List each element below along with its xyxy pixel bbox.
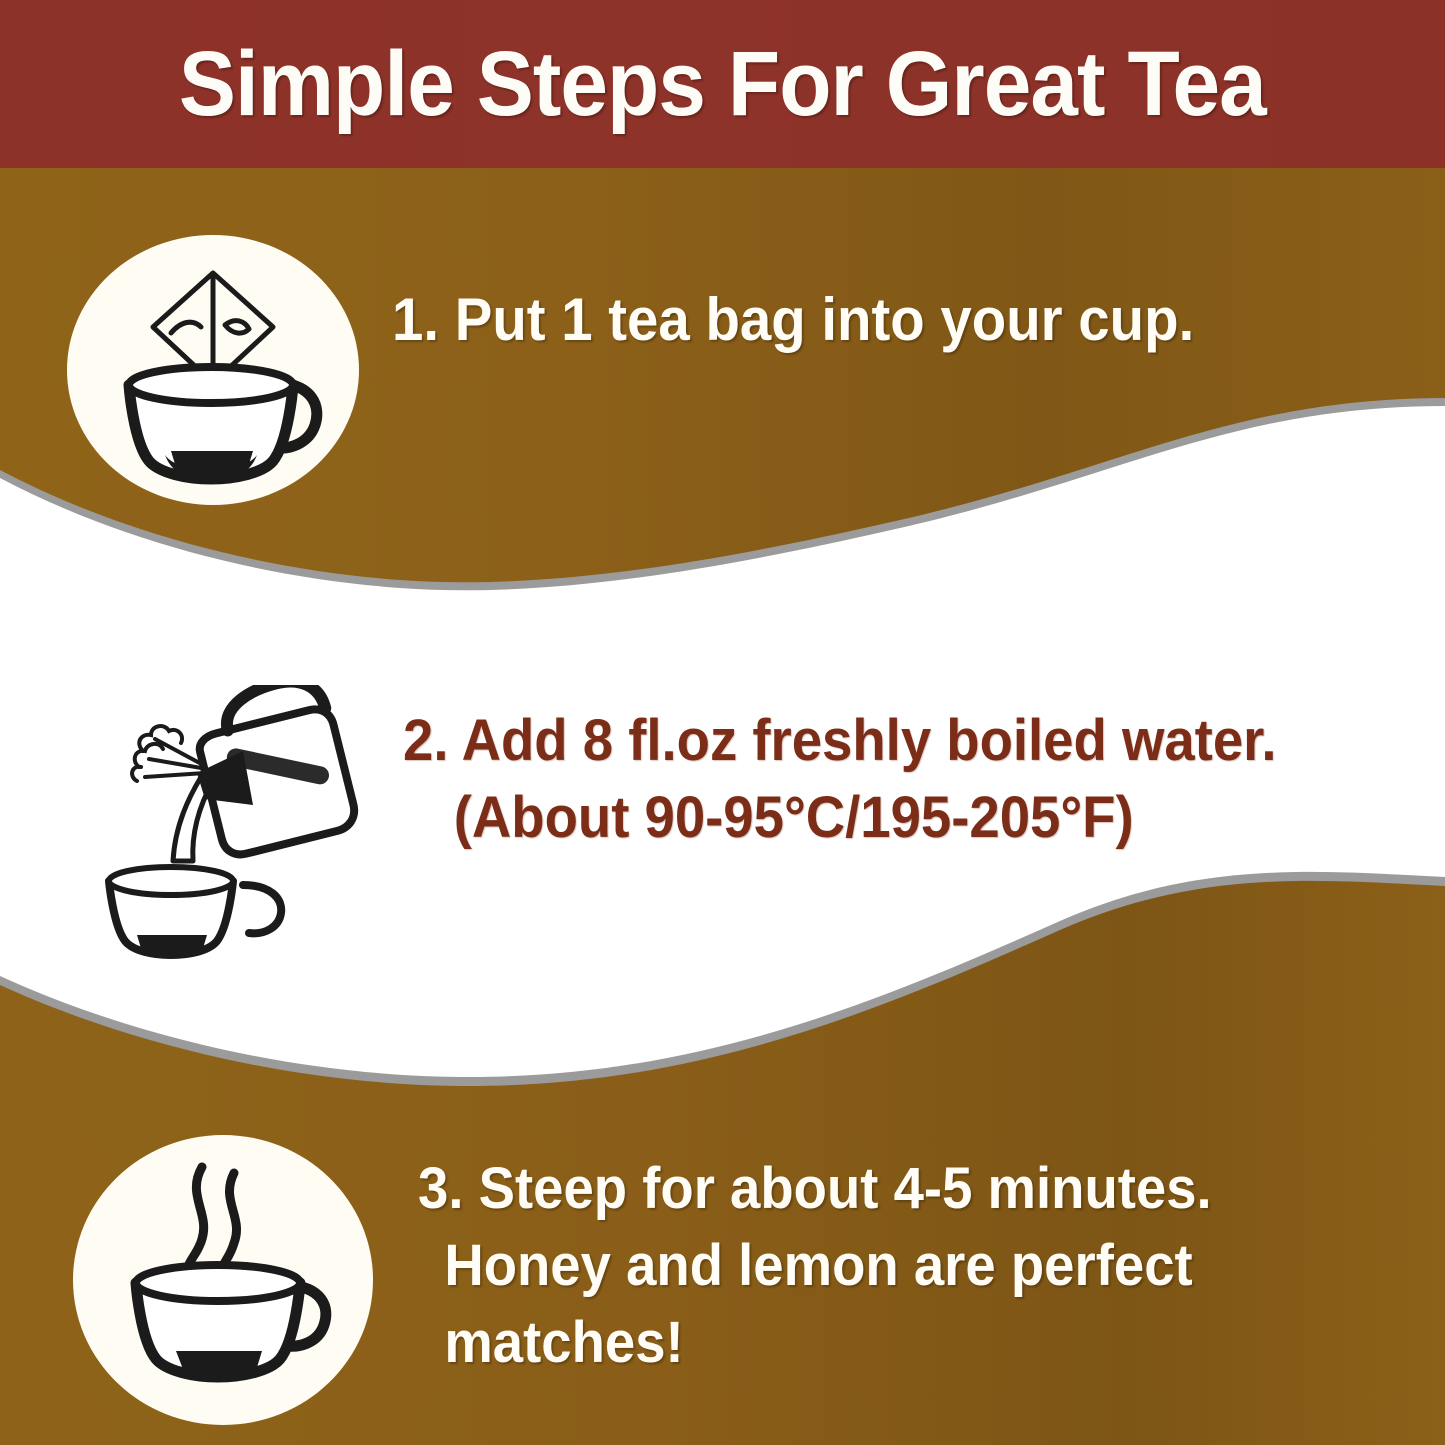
steaming-cup-icon	[98, 1155, 348, 1405]
step-2-text: 2. Add 8 fl.oz freshly boiled water. (Ab…	[403, 702, 1382, 856]
step-3-line-1: 3. Steep for about 4-5 minutes.	[418, 1150, 1383, 1227]
step-row-1: 1. Put 1 tea bag into your cup.	[0, 225, 1445, 515]
step-2-line-2: (About 90-95°C/195-205°F)	[403, 779, 1382, 856]
step-3-line-2: Honey and lemon are perfect	[418, 1227, 1383, 1304]
step-3-line-3: matches!	[418, 1304, 1383, 1381]
kettle-pouring-into-cup-icon	[93, 685, 368, 970]
step-1-icon-wrapper	[58, 225, 368, 515]
teabag-into-cup-icon	[93, 255, 333, 485]
step-3-text: 3. Steep for about 4-5 minutes. Honey an…	[418, 1150, 1383, 1381]
tea-brewing-infographic: Simple Steps For Great Tea	[0, 0, 1445, 1445]
step-2-line-1: 2. Add 8 fl.oz freshly boiled water.	[403, 702, 1382, 779]
step-3-icon-wrapper	[48, 1120, 398, 1440]
step-1-line-1: 1. Put 1 tea bag into your cup.	[392, 280, 1382, 360]
step-row-2: 2. Add 8 fl.oz freshly boiled water. (Ab…	[0, 680, 1445, 975]
header-banner: Simple Steps For Great Tea	[0, 0, 1445, 168]
step-row-3: 3. Steep for about 4-5 minutes. Honey an…	[0, 1120, 1445, 1440]
step-1-text: 1. Put 1 tea bag into your cup.	[392, 280, 1382, 360]
step-2-icon-wrapper	[85, 680, 375, 975]
page-title: Simple Steps For Great Tea	[179, 38, 1266, 130]
